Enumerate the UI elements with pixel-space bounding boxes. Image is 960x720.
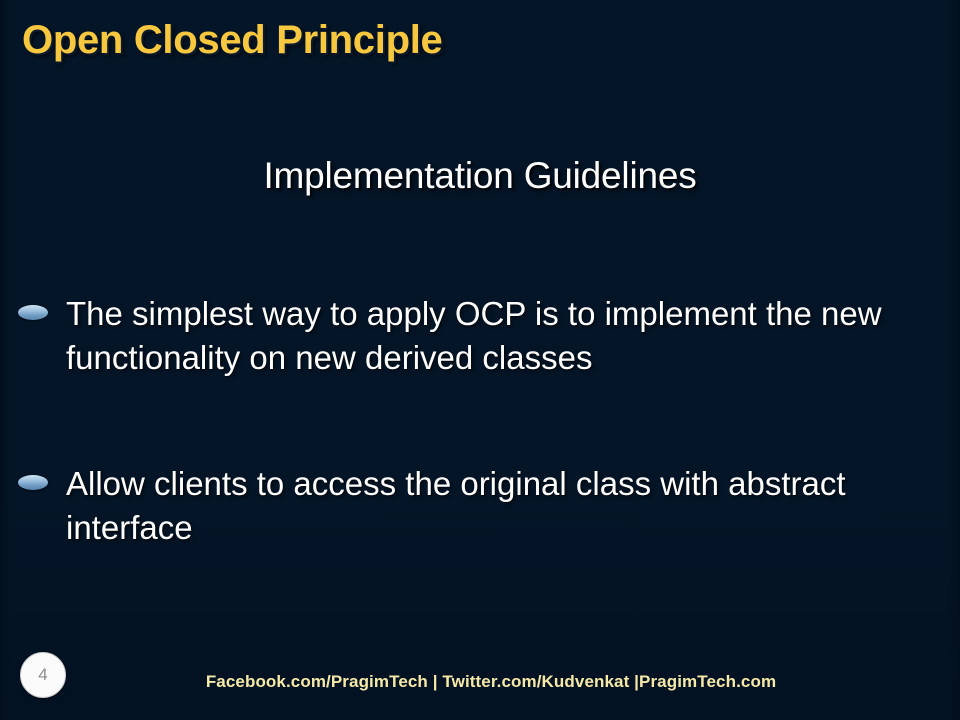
oval-bullet-icon bbox=[18, 305, 48, 320]
slide-number-badge: 4 bbox=[20, 652, 66, 698]
bullet-list-item: Allow clients to access the original cla… bbox=[18, 462, 930, 549]
bullet-item-label: Allow clients to access the original cla… bbox=[66, 462, 930, 549]
bullet-item-label: The simplest way to apply OCP is to impl… bbox=[66, 292, 930, 379]
slide-subtitle: Implementation Guidelines bbox=[0, 155, 960, 197]
oval-bullet-icon bbox=[18, 475, 48, 490]
bullet-list-item: The simplest way to apply OCP is to impl… bbox=[18, 292, 930, 379]
slide-title: Open Closed Principle bbox=[22, 18, 442, 63]
presentation-slide: Open Closed Principle Implementation Gui… bbox=[0, 0, 960, 720]
slide-footer-credits: Facebook.com/PragimTech | Twitter.com/Ku… bbox=[0, 672, 960, 692]
